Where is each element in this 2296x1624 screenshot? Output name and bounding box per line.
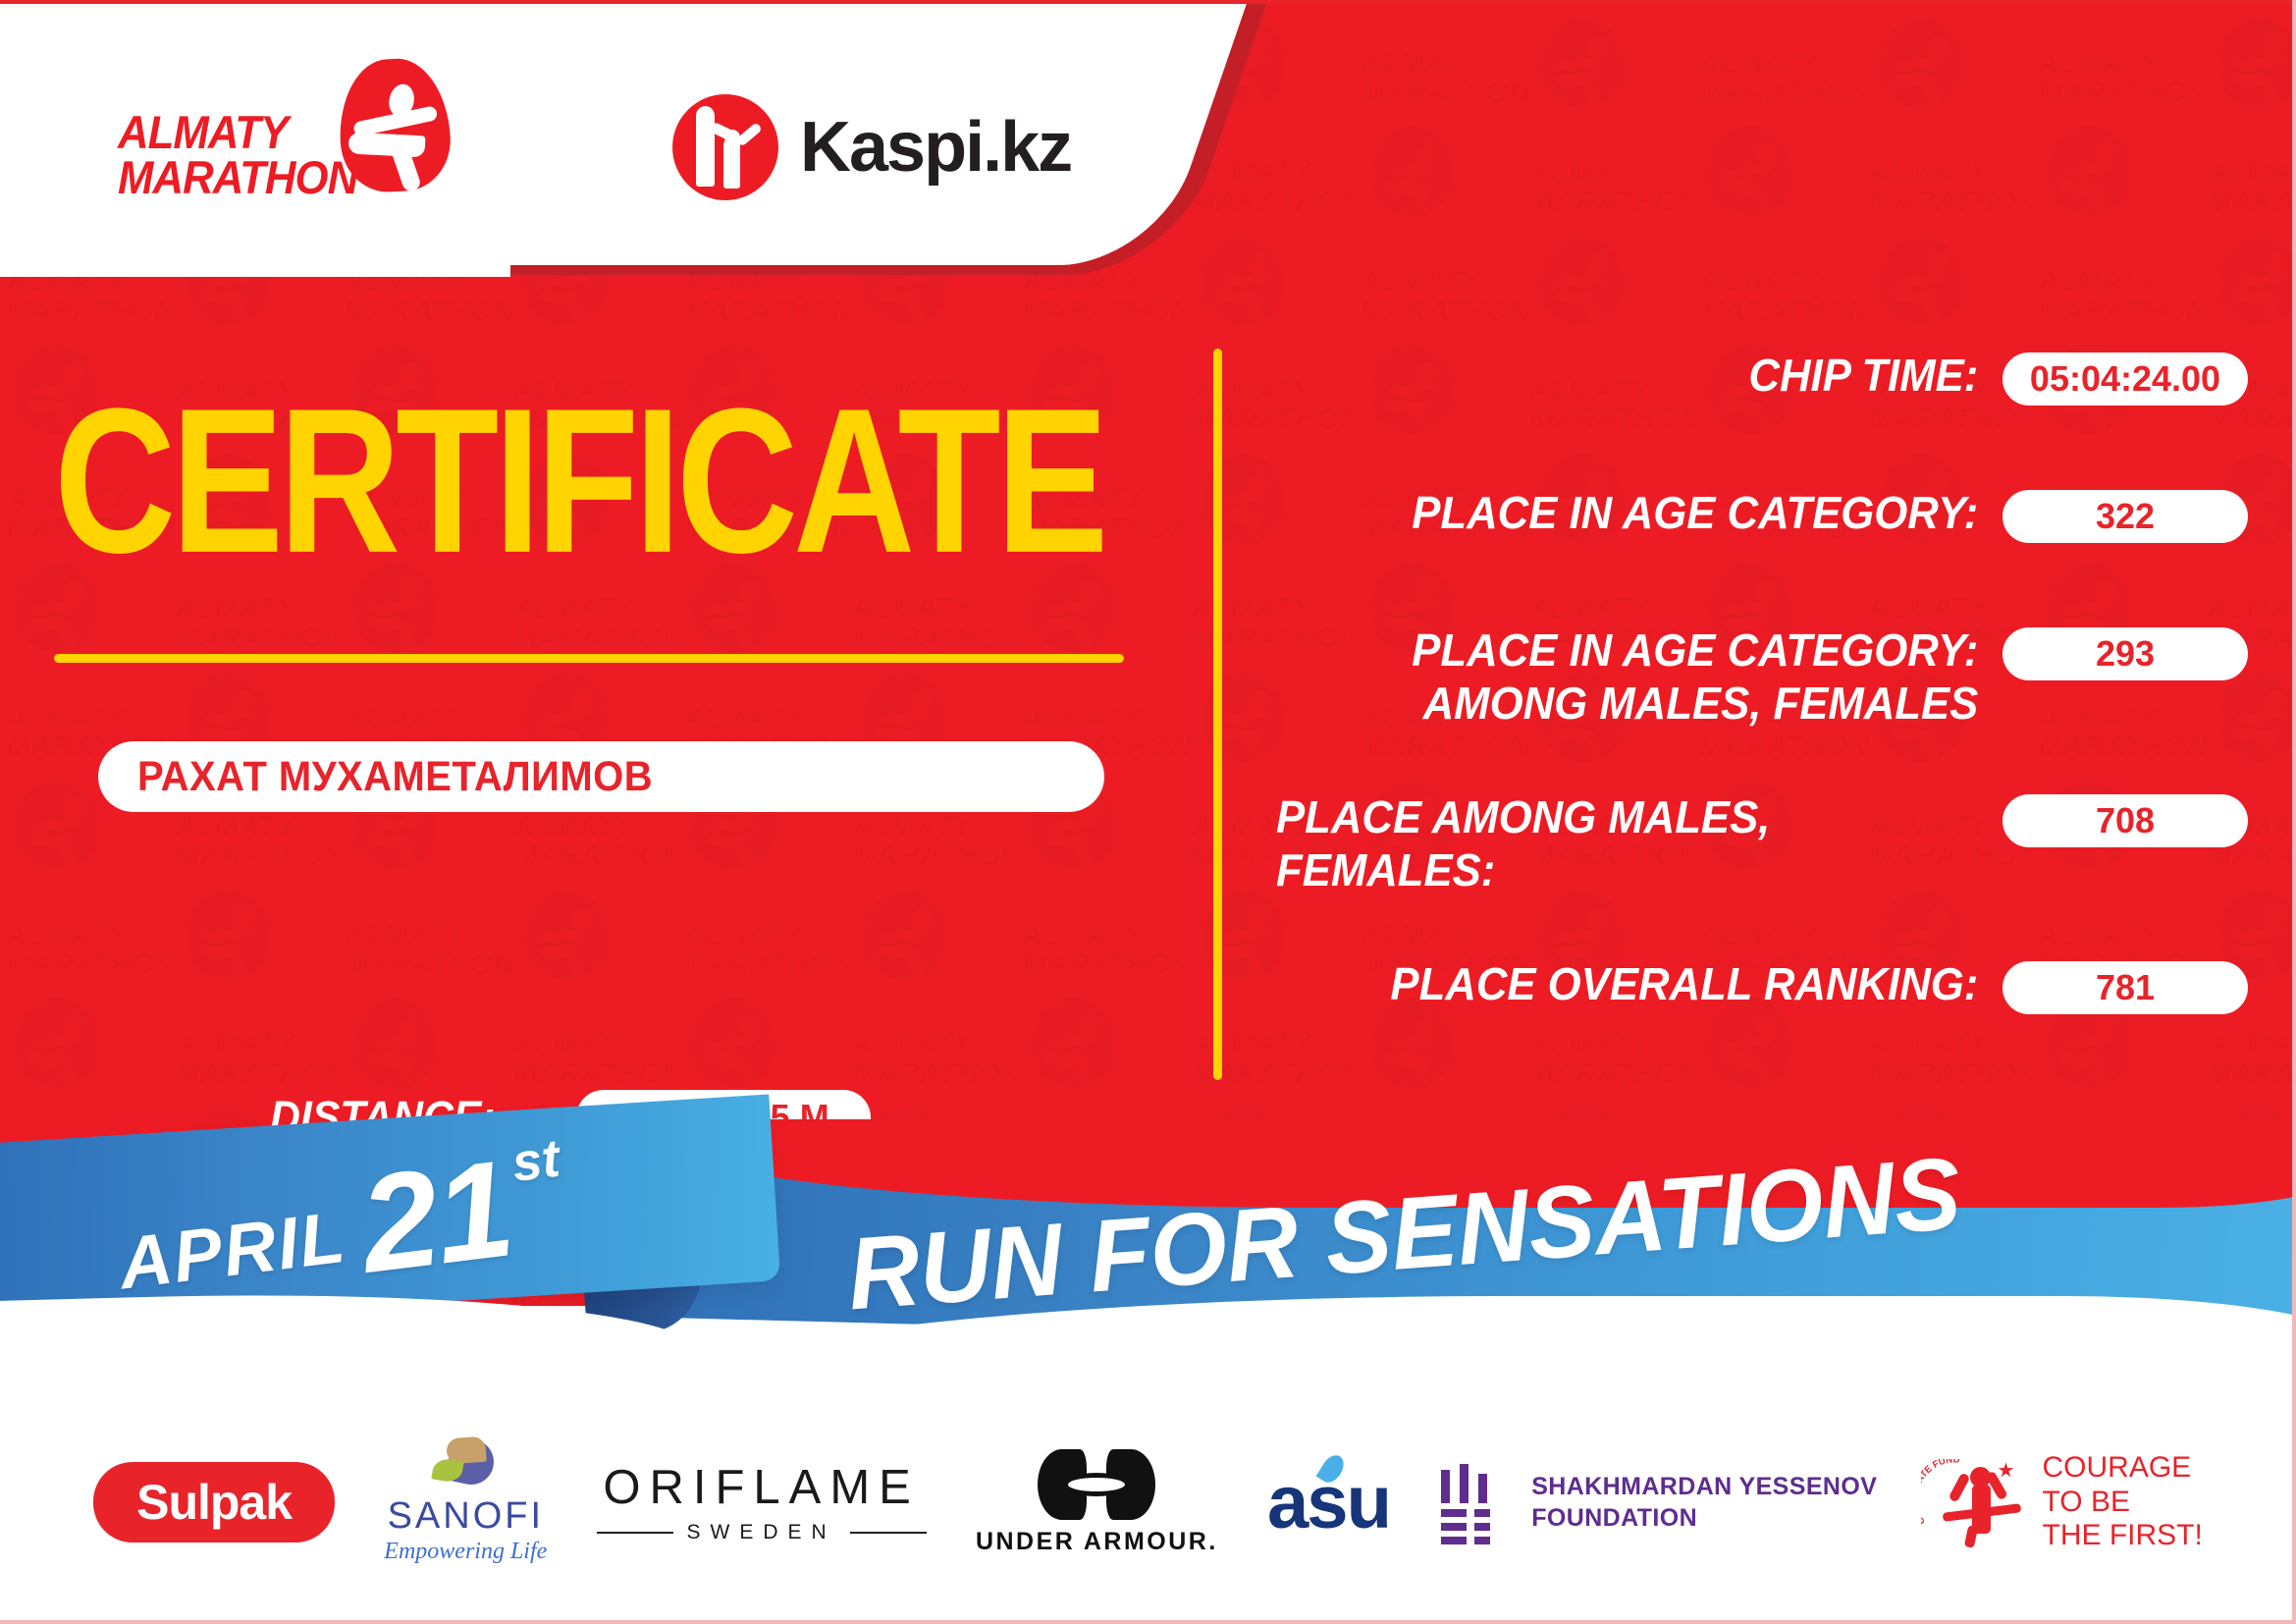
event-day-suffix: st <box>508 1128 562 1194</box>
stat-row-chip-time: CHIP TIME: 05:04:24.00 <box>1276 349 2248 406</box>
bar-2 <box>1460 1464 1468 1503</box>
sponsor-yessenov-foundation: SHAKHMARDAN YESSENOV FOUNDATION <box>1439 1464 1877 1541</box>
stat-row-place-among-males-females: PLACE AMONG MALES, FEMALES: 708 <box>1276 790 2248 897</box>
yessenov-line-1: SHAKHMARDAN YESSENOV <box>1531 1471 1877 1503</box>
event-ribbon: APRIL 21 st RUN FOR SENSATIONS <box>0 1100 2296 1414</box>
sponsor-oriflame: ORIFLAME SWEDEN <box>597 1460 927 1544</box>
yessenov-wordmark: SHAKHMARDAN YESSENOV FOUNDATION <box>1531 1471 1877 1535</box>
column-divider <box>1213 349 1222 1080</box>
athlete-name-field: РАХАТ МУХАМЕТАЛИМОВ <box>98 741 1104 812</box>
under-armour-icon <box>1038 1449 1155 1520</box>
page-title: CERTIFICATE <box>54 378 1103 584</box>
stat-value: 293 <box>2002 627 2248 680</box>
event-month: APRIL <box>115 1195 351 1306</box>
oriflame-rule-left <box>597 1532 673 1534</box>
oriflame-rule-right <box>850 1532 927 1534</box>
stat-label: PLACE IN AGE CATEGORY: AMONG MALES, FEMA… <box>1312 623 2002 731</box>
logo-line-2: MARATHON <box>118 155 362 200</box>
frame-line-top <box>0 0 2296 4</box>
kaspi-logo: Kaspi.kz <box>672 94 1071 200</box>
stat-label-line-1: PLACE AMONG MALES, <box>1276 790 1966 843</box>
under-armour-wordmark: UNDER ARMOUR. <box>976 1528 1218 1556</box>
bar-9 <box>1474 1537 1490 1544</box>
asu-logo: asu <box>1267 1460 1390 1545</box>
bar-3 <box>1478 1474 1487 1503</box>
bar-5 <box>1474 1509 1490 1517</box>
stat-value: 322 <box>2002 490 2248 543</box>
oriflame-tagline: SWEDEN <box>687 1521 836 1544</box>
courage-line-1: COURAGE <box>2043 1451 2203 1486</box>
athlete-name-value: РАХАТ МУХАМЕТАЛИМОВ <box>137 753 653 801</box>
header-content: ALMATY MARATHON Kaspi.kz <box>0 0 1178 277</box>
title-underline <box>54 654 1124 663</box>
stat-label: PLACE IN AGE CATEGORY: <box>1312 486 2002 539</box>
kaspi-adult-body <box>696 108 715 187</box>
stat-value: 708 <box>2002 794 2248 847</box>
frame-line-right <box>2292 0 2296 1624</box>
yessenov-line-2: FOUNDATION <box>1531 1502 1877 1535</box>
stat-label-line-1: PLACE IN AGE CATEGORY: <box>1312 623 1978 677</box>
stat-row-place-age-category: PLACE IN AGE CATEGORY: 322 <box>1276 486 2248 543</box>
stat-label-line-2: FEMALES: <box>1276 843 1966 896</box>
bar-7 <box>1474 1523 1490 1531</box>
stat-value: 781 <box>2002 961 2248 1014</box>
bar-6 <box>1441 1523 1467 1531</box>
sponsor-sulpak: Sulpak <box>93 1462 335 1543</box>
sanofi-tagline: Empowering Life <box>384 1539 547 1565</box>
courage-fund-wordmark: COURAGE TO BE THE FIRST! <box>2043 1451 2203 1553</box>
kaspi-wordmark: Kaspi.kz <box>800 107 1071 188</box>
yessenov-foundation-icon <box>1439 1464 1508 1541</box>
stat-value: 05:04:24.00 <box>2002 352 2248 406</box>
sponsor-sanofi: SANOFI Empowering Life <box>384 1439 547 1565</box>
bar-4 <box>1441 1509 1467 1517</box>
sanofi-wordmark: SANOFI <box>388 1495 544 1538</box>
bar-8 <box>1441 1537 1467 1544</box>
almaty-marathon-logo: ALMATY MARATHON <box>118 59 471 216</box>
logo-line-1: ALMATY <box>118 110 362 155</box>
stat-row-place-age-category-among: PLACE IN AGE CATEGORY: AMONG MALES, FEMA… <box>1276 623 2248 731</box>
stat-row-place-overall-ranking: PLACE OVERALL RANKING: 781 <box>1276 957 2248 1014</box>
frame-line-bottom <box>0 1620 2296 1624</box>
sponsor-under-armour: UNDER ARMOUR. <box>976 1449 1218 1556</box>
sulpak-logo: Sulpak <box>93 1462 335 1543</box>
stat-label: PLACE AMONG MALES, FEMALES: <box>1276 790 1966 897</box>
courage-star-icon: ★ <box>1998 1461 2015 1481</box>
stat-label: PLACE OVERALL RANKING: <box>1312 957 2002 1010</box>
stat-label: CHIP TIME: <box>1312 349 2002 402</box>
certificate-canvas: ALMATY MARATHON Kaspi.kz CERTIFICATE РАХ… <box>0 0 2296 1624</box>
courage-line-3: THE FIRST! <box>2043 1519 2203 1553</box>
bar-1 <box>1441 1470 1450 1503</box>
kaspi-people-icon <box>672 94 778 200</box>
almaty-marathon-wordmark: ALMATY MARATHON <box>118 110 381 200</box>
oriflame-sub: SWEDEN <box>597 1521 927 1544</box>
courage-fund-icon: CORPORATE FUND ★ <box>1927 1457 2029 1547</box>
event-day: 21 <box>355 1149 517 1283</box>
sanofi-logo <box>433 1439 498 1494</box>
ua-center-ring <box>1063 1473 1130 1496</box>
sponsor-strip: Sulpak SANOFI Empowering Life ORIFLAME S… <box>0 1404 2296 1600</box>
courage-line-2: TO BE <box>2043 1486 2203 1520</box>
stat-label-line-2: AMONG MALES, FEMALES <box>1312 677 1978 730</box>
sponsor-asu: asu <box>1267 1460 1390 1545</box>
kaspi-child-body <box>723 137 740 189</box>
oriflame-wordmark: ORIFLAME <box>603 1460 919 1515</box>
sponsor-courage-fund: CORPORATE FUND ★ COURAGE TO BE THE FIRST… <box>1927 1451 2203 1553</box>
